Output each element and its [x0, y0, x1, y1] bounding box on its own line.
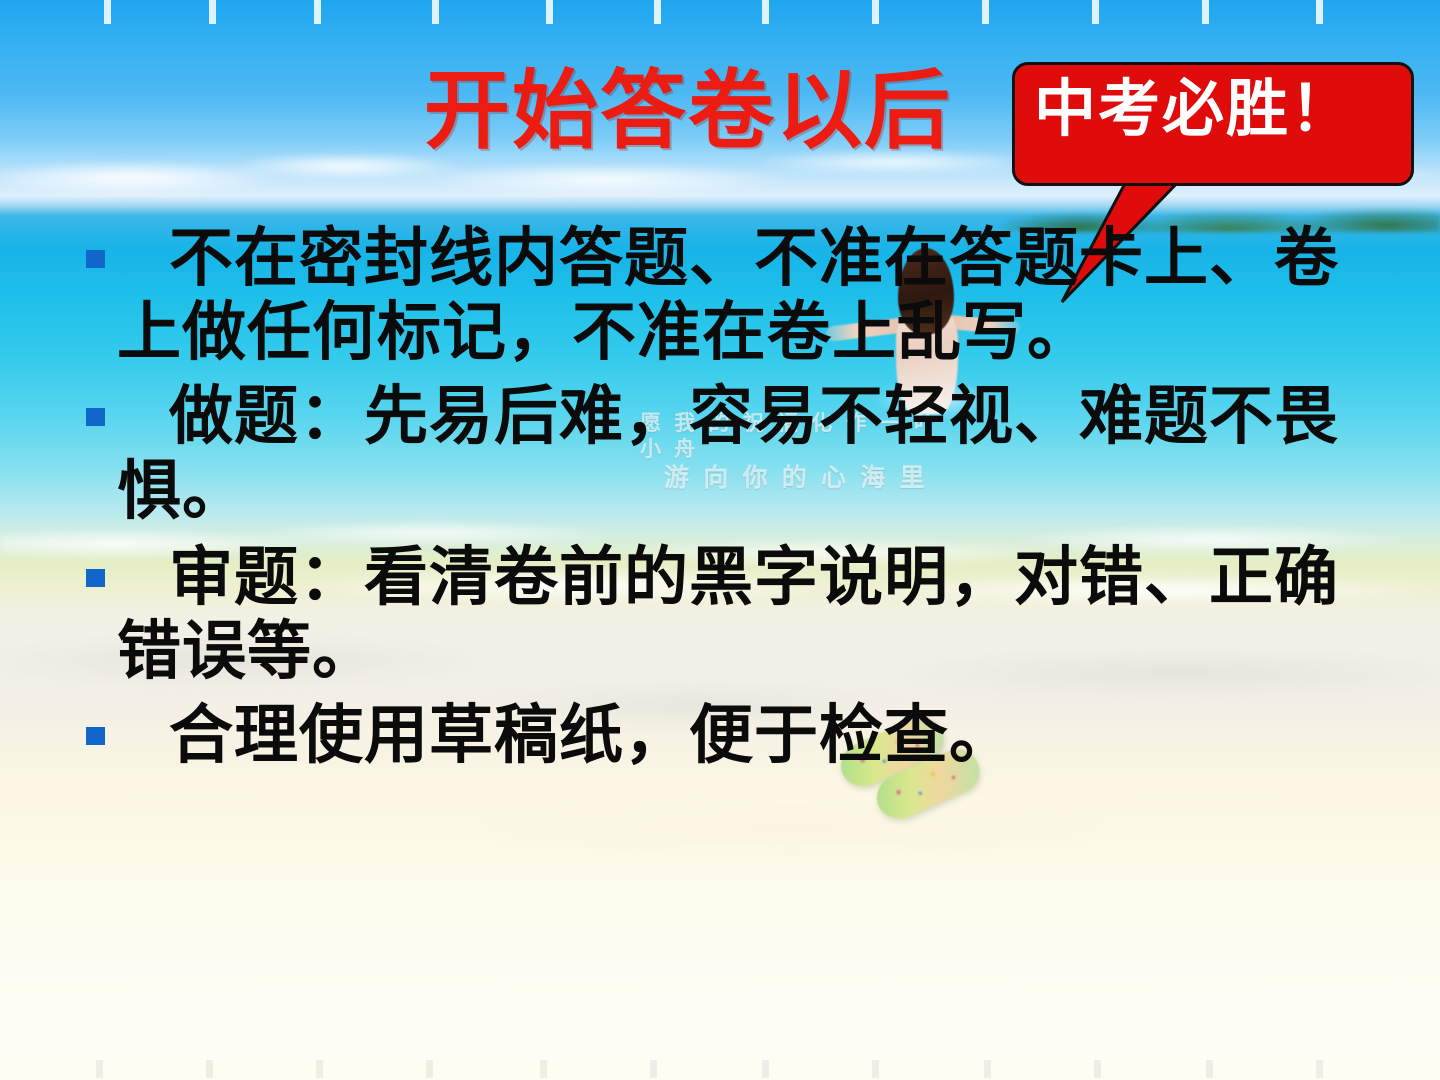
bullet-text: 不在密封线内答题、不准在答题卡上、卷上做任何标记，不准在卷上乱写。	[117, 222, 1366, 370]
slide-title: 开始答卷以后	[424, 68, 952, 154]
callout-text: 中考必胜！	[1034, 78, 1400, 143]
bullet-text: 审题：看清卷前的黑字说明，对错、正确错误等。	[117, 541, 1366, 689]
slide-canvas: 愿 我 的 祝 福 化 作 一 叶 小 舟 游 向 你 的 心 海 里	[0, 0, 1440, 1080]
list-item: 不在密封线内答题、不准在答题卡上、卷上做任何标记，不准在卷上乱写。	[86, 222, 1366, 370]
bullet-square-icon	[86, 408, 105, 426]
bullet-text: 合理使用草稿纸，便于检查。	[117, 699, 1366, 773]
bullet-text: 做题：先易后难，容易不轻视、难题不畏惧。	[117, 380, 1366, 528]
list-item: 审题：看清卷前的黑字说明，对错、正确错误等。	[86, 541, 1366, 689]
list-item: 做题：先易后难，容易不轻视、难题不畏惧。	[86, 380, 1366, 528]
callout-bubble[interactable]: 中考必胜！	[1012, 62, 1414, 186]
bullet-square-icon	[86, 250, 105, 268]
bullet-list: 不在密封线内答题、不准在答题卡上、卷上做任何标记，不准在卷上乱写。 做题：先易后…	[86, 222, 1366, 788]
bullet-square-icon	[86, 727, 105, 745]
bullet-square-icon	[86, 569, 105, 587]
list-item: 合理使用草稿纸，便于检查。	[86, 699, 1366, 773]
